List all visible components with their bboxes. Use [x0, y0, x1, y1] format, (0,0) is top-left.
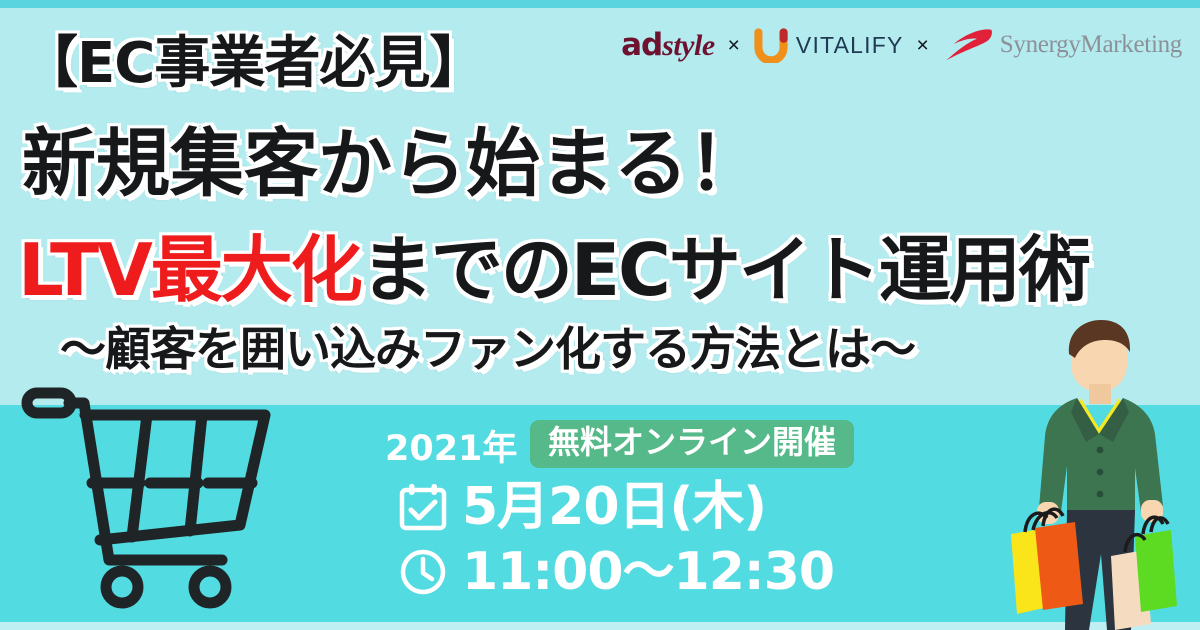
- logo-separator-1-icon: ×: [728, 35, 740, 56]
- adstyle-logo-text-ad: ad: [621, 30, 662, 61]
- synergymarketing-logo-text: SynergyMarketing: [1000, 31, 1182, 59]
- event-time-text: 11:00〜12:30: [462, 546, 834, 598]
- partner-logo-row: ad style × VITALIFY × SynergyMarketing: [621, 27, 1182, 63]
- headline-line-3: LTV最大化までのECサイト運用術: [18, 211, 1089, 316]
- vitalify-logo-text: VITALIFY: [796, 32, 904, 59]
- headline-highlight-ltv: LTV最大化: [18, 228, 361, 312]
- headline-line-2: 新規集客から始まる！: [22, 104, 762, 211]
- shopper-man-illustration: [989, 318, 1200, 630]
- headline-line-1: 【EC事業者必見】: [22, 18, 484, 99]
- top-accent-strip: [0, 0, 1200, 8]
- headline-subtitle: 〜顧客を囲い込みファン化する方法とは〜: [60, 313, 915, 379]
- calendar-check-icon: [398, 482, 448, 532]
- vitalify-logo: VITALIFY: [753, 27, 904, 63]
- synergy-swoosh-icon: [942, 27, 994, 63]
- vitalify-u-mark-icon: [753, 27, 789, 63]
- adstyle-logo: ad style: [621, 30, 715, 61]
- headline-line-3-rest: までのECサイト運用術: [361, 228, 1089, 312]
- event-date-row: 5月20日(木): [398, 481, 766, 533]
- webinar-banner: ad style × VITALIFY × SynergyMarketing 【…: [0, 0, 1200, 630]
- logo-separator-2-icon: ×: [917, 35, 929, 56]
- clock-icon: [398, 547, 448, 597]
- adstyle-logo-text-style: style: [662, 31, 714, 61]
- status-badge-free-online: 無料オンライン開催: [530, 420, 854, 468]
- event-date-text: 5月20日(木): [462, 481, 766, 533]
- event-time-row: 11:00〜12:30: [398, 546, 834, 598]
- synergymarketing-logo: SynergyMarketing: [942, 27, 1182, 63]
- shopping-cart-icon: [12, 385, 312, 620]
- event-year: 2021年: [385, 420, 517, 471]
